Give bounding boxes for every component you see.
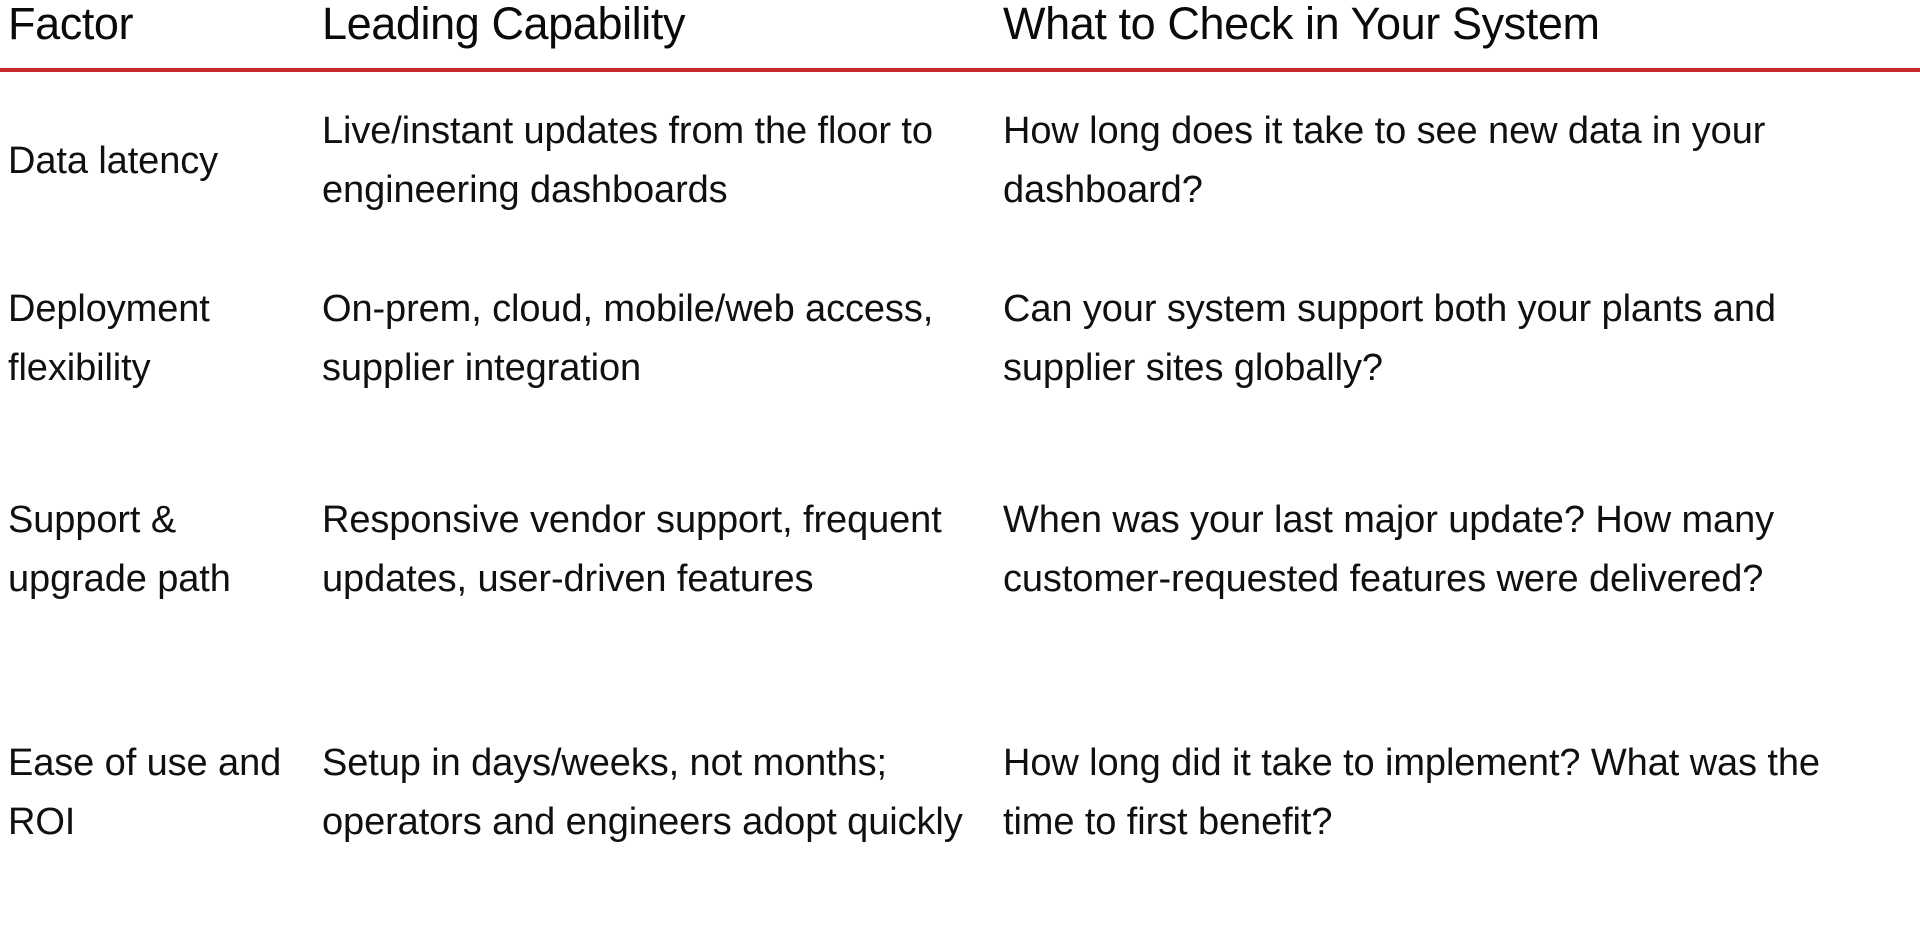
column-header-leading-capability: Leading Capability xyxy=(312,0,995,70)
cell-text-what-to-check: When was your last major update? How man… xyxy=(1003,491,1900,609)
cell-leading-capability: Responsive vendor support, frequent upda… xyxy=(312,428,995,671)
cell-leading-capability: Setup in days/weeks, not months; operato… xyxy=(312,671,995,914)
cell-what-to-check: Can your system support both your plants… xyxy=(995,250,1920,428)
cell-factor: Support & upgrade path xyxy=(0,428,312,671)
table-row: Data latency Live/instant updates from t… xyxy=(0,70,1920,250)
cell-text-factor: Deployment flexibility xyxy=(8,280,288,398)
cell-text-leading-capability: On-prem, cloud, mobile/web access, suppl… xyxy=(322,280,969,398)
cell-text-factor: Support & upgrade path xyxy=(8,491,288,609)
cell-text-leading-capability: Live/instant updates from the floor to e… xyxy=(322,102,969,220)
cell-factor: Deployment flexibility xyxy=(0,250,312,428)
column-header-factor: Factor xyxy=(0,0,312,70)
cell-leading-capability: On-prem, cloud, mobile/web access, suppl… xyxy=(312,250,995,428)
column-header-what-to-check: What to Check in Your System xyxy=(995,0,1920,70)
cell-text-what-to-check: How long did it take to implement? What … xyxy=(1003,734,1900,852)
table-header-row: Factor Leading Capability What to Check … xyxy=(0,0,1920,70)
cell-what-to-check: How long did it take to implement? What … xyxy=(995,671,1920,914)
cell-text-leading-capability: Setup in days/weeks, not months; operato… xyxy=(322,734,969,852)
cell-text-what-to-check: How long does it take to see new data in… xyxy=(1003,102,1900,220)
comparison-table: Factor Leading Capability What to Check … xyxy=(0,0,1920,914)
cell-what-to-check: When was your last major update? How man… xyxy=(995,428,1920,671)
table-row: Deployment flexibility On-prem, cloud, m… xyxy=(0,250,1920,428)
table-row: Ease of use and ROI Setup in days/weeks,… xyxy=(0,671,1920,914)
cell-factor: Data latency xyxy=(0,70,312,250)
slide-canvas: Factor Leading Capability What to Check … xyxy=(0,0,1920,934)
cell-leading-capability: Live/instant updates from the floor to e… xyxy=(312,70,995,250)
table-body: Data latency Live/instant updates from t… xyxy=(0,70,1920,914)
table-header: Factor Leading Capability What to Check … xyxy=(0,0,1920,70)
cell-text-leading-capability: Responsive vendor support, frequent upda… xyxy=(322,491,969,609)
cell-text-what-to-check: Can your system support both your plants… xyxy=(1003,280,1900,398)
cell-text-factor: Ease of use and ROI xyxy=(8,734,288,852)
cell-text-factor: Data latency xyxy=(8,132,288,191)
cell-what-to-check: How long does it take to see new data in… xyxy=(995,70,1920,250)
cell-factor: Ease of use and ROI xyxy=(0,671,312,914)
table-row: Support & upgrade path Responsive vendor… xyxy=(0,428,1920,671)
